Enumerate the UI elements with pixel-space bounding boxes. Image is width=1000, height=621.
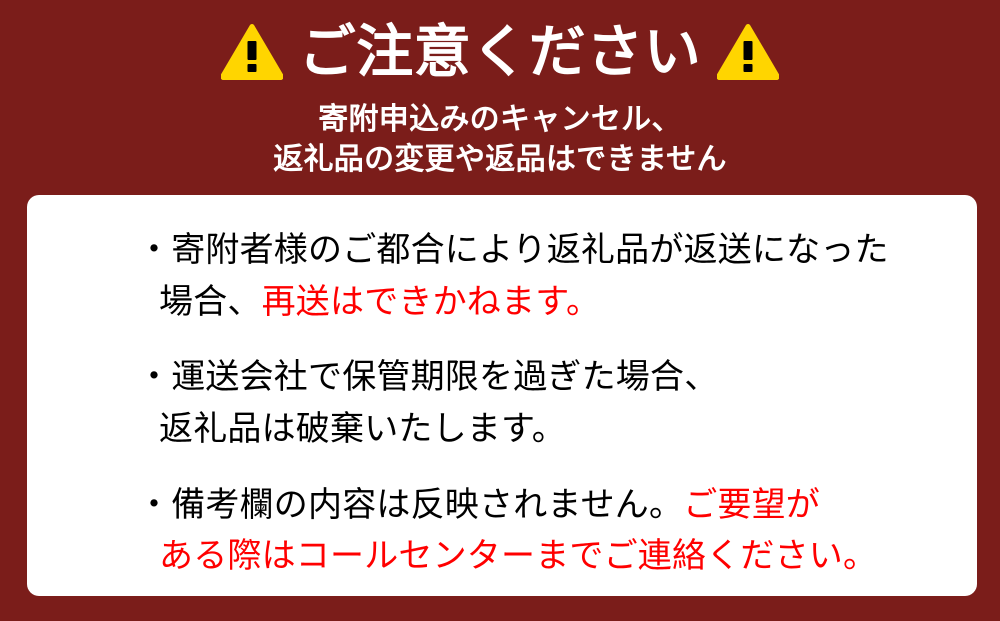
notice-1-line1: 寄附者様のご都合により返礼品が返送になった bbox=[171, 231, 889, 269]
notice-subtitle-line-2: 返礼品の変更や返品はできません bbox=[273, 140, 727, 180]
notice-1-line2: 場合、再送はできかねます。 bbox=[159, 277, 937, 329]
notice-subtitle-line-1: 寄附申込みのキャンセル、 bbox=[273, 100, 727, 140]
notice-2-line2-black: 返礼品は破棄いたします。 bbox=[159, 410, 566, 448]
list-item: ・備考欄の内容は反映されません。ご要望が ある際はコールセンターまでご連絡くださ… bbox=[137, 480, 937, 583]
notice-3-line2-red: ある際はコールセンターまでご連絡ください。 bbox=[159, 537, 877, 575]
bullet-marker: ・ bbox=[137, 358, 171, 396]
bullet-marker: ・ bbox=[137, 231, 171, 269]
list-item: ・運送会社で保管期限を過ぎた場合、 返礼品は破棄いたします。 bbox=[137, 352, 937, 455]
list-item: ・寄附者様のご都合により返礼品が返送になった 場合、再送はできかねます。 bbox=[137, 225, 937, 328]
warning-triangle-icon bbox=[221, 24, 283, 80]
notice-1-line2-black: 場合、 bbox=[159, 283, 262, 321]
warning-triangle-icon bbox=[717, 24, 779, 80]
bullet-marker: ・ bbox=[137, 486, 171, 524]
notice-title-row: ご注意ください bbox=[221, 16, 780, 88]
notice-subtitle: 寄附申込みのキャンセル、 返礼品の変更や返品はできません bbox=[273, 100, 727, 180]
notice-card: ・寄附者様のご都合により返礼品が返送になった 場合、再送はできかねます。 ・運送… bbox=[27, 195, 977, 596]
page-title: ご注意ください bbox=[299, 24, 702, 81]
notice-2-line1: 運送会社で保管期限を過ぎた場合、 bbox=[171, 358, 718, 396]
cancellation-notice-banner: ご注意ください 寄附申込みのキャンセル、 返礼品の変更や返品はできません ・寄附… bbox=[0, 0, 1000, 621]
notice-3-line1-black: 備考欄の内容は反映されません。 bbox=[171, 486, 683, 524]
notice-3-line1-red: ご要望が bbox=[683, 486, 820, 524]
notice-1-line2-red: 再送はできかねます。 bbox=[262, 283, 601, 321]
notice-header: ご注意ください 寄附申込みのキャンセル、 返礼品の変更や返品はできません bbox=[0, 0, 1000, 180]
notice-2-line2: 返礼品は破棄いたします。 bbox=[159, 404, 937, 456]
notice-3-line2: ある際はコールセンターまでご連絡ください。 bbox=[159, 531, 937, 583]
